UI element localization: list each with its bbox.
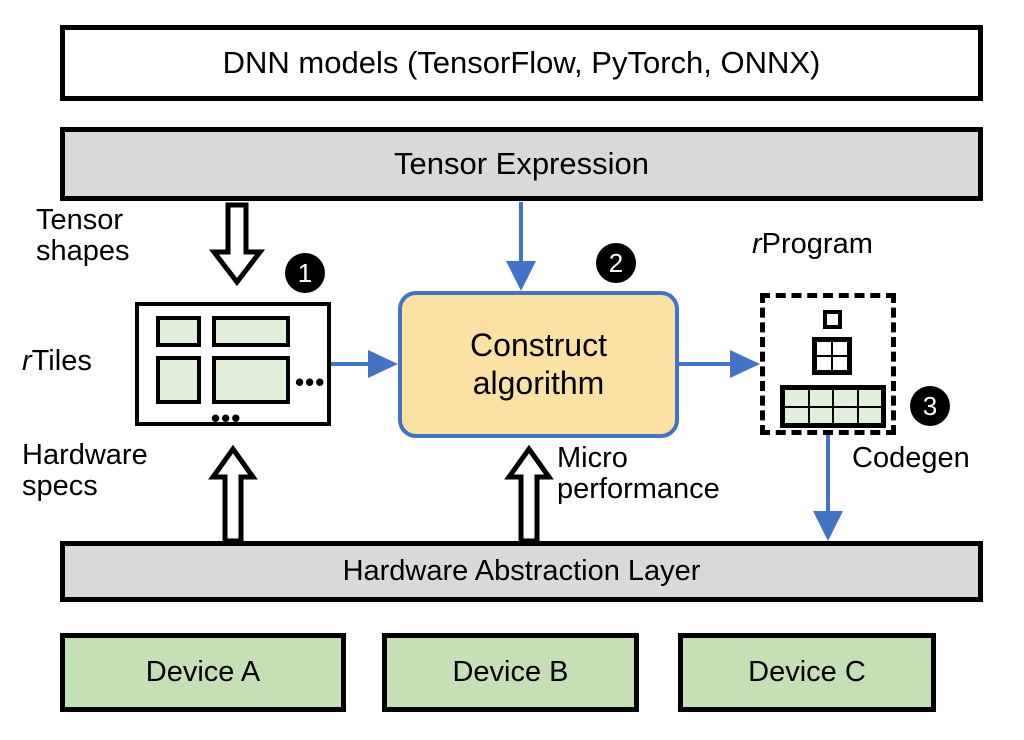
- rprogram-grid-cell: [783, 406, 810, 426]
- rtile-item: [156, 356, 201, 404]
- rprogram-quad-grid-icon: [812, 337, 852, 375]
- tensor-expression-to-construct-arrow: [506, 202, 536, 291]
- rprogram-box: [760, 293, 896, 435]
- rtiles-label-rest: Tiles: [32, 345, 92, 377]
- tensor-expression-box: Tensor Expression: [60, 127, 983, 201]
- hardware-specs-line-1: Hardware: [22, 440, 148, 471]
- device-box-c: Device C: [678, 633, 936, 712]
- rprogram-quad-cell: [831, 355, 849, 372]
- rtiles-to-construct-arrow: [331, 350, 398, 378]
- device-b-label: Device B: [452, 656, 568, 689]
- dnn-models-label: DNN models (TensorFlow, PyTorch, ONNX): [223, 45, 821, 81]
- construct-algorithm-line-1: Construct: [470, 327, 607, 365]
- micro-performance-line-1: Micro: [557, 443, 720, 474]
- rtiles-box: ••• •••: [135, 302, 331, 426]
- rprogram-scalar-icon: [823, 310, 842, 329]
- micro-performance-arrow: [509, 449, 549, 541]
- hardware-specs-line-2: specs: [22, 471, 148, 502]
- hardware-specs-label: Hardware specs: [22, 440, 148, 503]
- rprogram-label: rProgram: [752, 228, 873, 261]
- rtile-item: [212, 356, 290, 404]
- rprogram-label-rest: Program: [762, 228, 873, 260]
- codegen-arrow: [813, 435, 843, 541]
- hardware-abstraction-layer-box: Hardware Abstraction Layer: [60, 541, 983, 602]
- hardware-abstraction-layer-label: Hardware Abstraction Layer: [343, 555, 701, 588]
- codegen-label: Codegen: [852, 443, 970, 474]
- diagram-canvas: DNN models (TensorFlow, PyTorch, ONNX) T…: [0, 0, 1024, 740]
- device-a-label: Device A: [146, 656, 260, 689]
- tensor-shapes-line-1: Tensor: [36, 205, 130, 236]
- rtiles-ellipsis-bottom: •••: [211, 405, 241, 431]
- rprogram-grid-cell: [857, 406, 884, 426]
- micro-performance-line-2: performance: [557, 474, 720, 505]
- device-box-b: Device B: [382, 633, 639, 712]
- device-box-a: Device A: [60, 633, 346, 712]
- rprogram-grid-cell: [808, 406, 835, 426]
- rtiles-label-prefix: r: [22, 345, 32, 377]
- step-marker-3: 3: [910, 386, 950, 426]
- micro-performance-label: Micro performance: [557, 443, 720, 506]
- dnn-models-box: DNN models (TensorFlow, PyTorch, ONNX): [60, 25, 983, 101]
- construct-algorithm-box: Construct algorithm: [398, 291, 679, 438]
- device-c-label: Device C: [748, 656, 866, 689]
- tensor-shapes-arrow: [214, 205, 260, 282]
- construct-to-rprogram-arrow: [679, 350, 760, 378]
- step-marker-2: 2: [596, 243, 636, 283]
- hardware-specs-arrow: [213, 449, 253, 541]
- rprogram-grid-cell: [832, 406, 859, 426]
- step-marker-1: 1: [285, 253, 325, 293]
- rtiles-ellipsis-right: •••: [295, 369, 325, 395]
- tensor-expression-label: Tensor Expression: [394, 146, 649, 182]
- rtile-item: [156, 316, 201, 347]
- rtiles-label: rTiles: [22, 345, 92, 378]
- tensor-shapes-label: Tensor shapes: [36, 205, 130, 268]
- construct-algorithm-line-2: algorithm: [470, 365, 607, 403]
- rtile-item: [212, 316, 290, 347]
- rprogram-tile-grid-icon: [780, 385, 886, 428]
- tensor-shapes-line-2: shapes: [36, 236, 130, 267]
- rprogram-label-prefix: r: [752, 228, 762, 260]
